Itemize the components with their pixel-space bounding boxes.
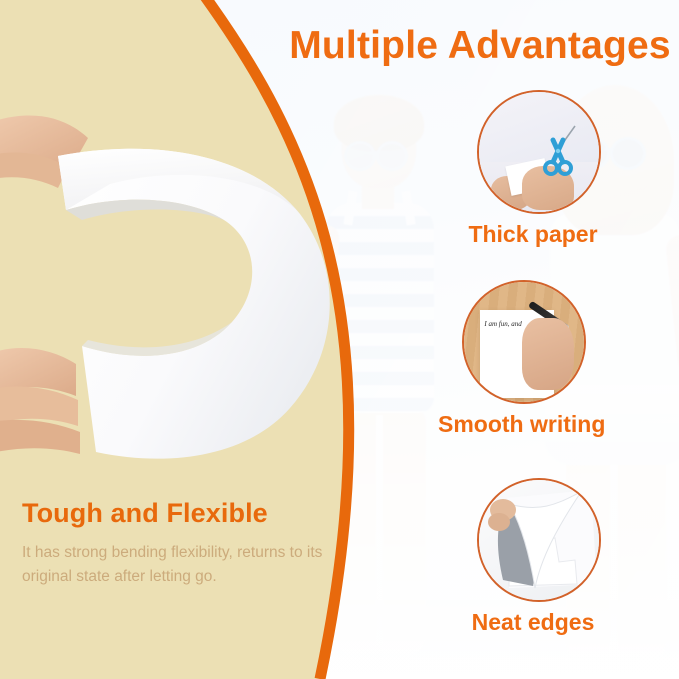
product-photo-hands-bending-sheet: [0, 96, 352, 468]
feature-badge-neat-edges[interactable]: Neat edges: [477, 478, 601, 634]
white-sheet: [58, 149, 330, 459]
left-copy-block: Tough and Flexible It has strong bending…: [22, 500, 352, 588]
peeling-sheet-illustration: [479, 480, 599, 600]
lower-hand: [0, 348, 80, 456]
infographic-canvas: Multiple Advantages Tough and Flexible I…: [0, 0, 679, 679]
blue-scissors-icon: [479, 92, 599, 212]
feature-image-smooth-writing: I am fun, and: [462, 280, 586, 404]
bending-sheet-illustration: [0, 96, 352, 468]
feature-label-thick-paper: Thick paper: [465, 223, 601, 246]
left-body-text: It has strong bending flexibility, retur…: [22, 541, 352, 588]
feature-image-neat-edges: [477, 478, 601, 602]
feature-label-neat-edges: Neat edges: [465, 611, 601, 634]
feature-image-thick-paper: [477, 90, 601, 214]
feature-label-smooth-writing: Smooth writing: [438, 413, 605, 436]
left-heading: Tough and Flexible: [22, 500, 352, 527]
feature-badge-thick-paper[interactable]: Thick paper: [477, 90, 601, 246]
page-title: Multiple Advantages: [284, 26, 676, 65]
feature-badge-smooth-writing[interactable]: I am fun, and Smooth writing: [462, 280, 605, 436]
handwriting-text: I am fun, and: [484, 320, 521, 328]
